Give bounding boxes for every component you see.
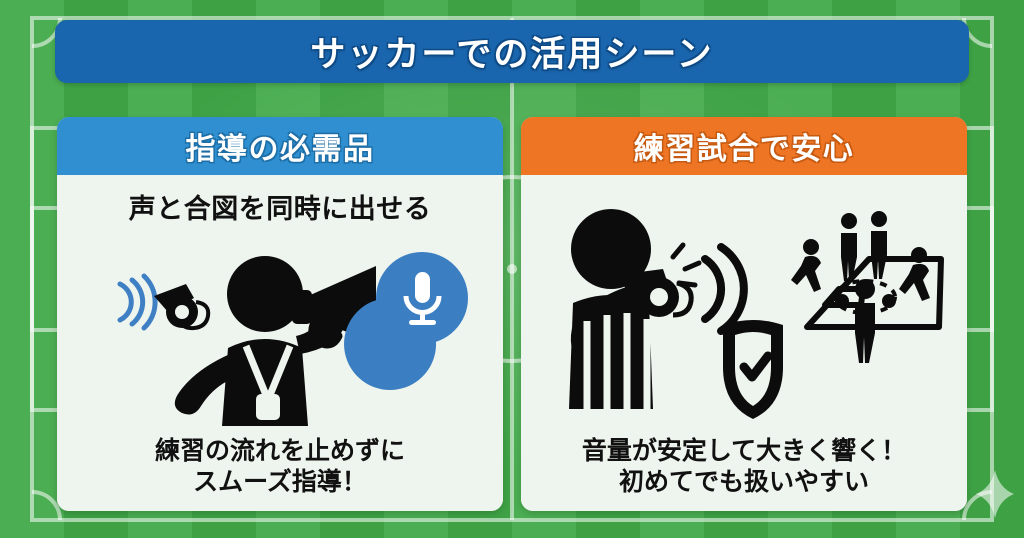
card-header-label-left: 指導の必需品 [186, 124, 375, 168]
page-title: サッカーでの活用シーン [310, 26, 713, 77]
card-coaching-essential: 指導の必需品 声と合図を同時に出せる [57, 117, 503, 511]
card-heading-left: 声と合図を同時に出せる [129, 187, 432, 226]
card-caption-right: 音量が安定して大きく響く！ 初めてでも扱いやすい [582, 436, 906, 511]
player-figures [791, 211, 930, 363]
soccer-pitch-players-icon [791, 211, 941, 363]
card-practice-match: 練習試合で安心 [521, 117, 967, 511]
card-caption-right-line2: 初めてでも扱いやすい [582, 467, 906, 498]
card-header-right: 練習試合で安心 [521, 117, 967, 175]
card-header-left: 指導の必需品 [57, 117, 503, 175]
card-caption-left-line1: 練習の流れを止めずに [155, 436, 405, 467]
card-caption-left-line2: スムーズ指導！ [155, 467, 405, 498]
infographic-stage: サッカーでの活用シーン 指導の必需品 声と合図を同時に出せる [0, 0, 1024, 538]
sound-waves-icon [705, 247, 744, 331]
whistle-spark-icon [673, 245, 699, 285]
card-caption-left: 練習の流れを止めずに スムーズ指導！ [155, 436, 405, 511]
card-header-label-right: 練習試合で安心 [634, 124, 855, 168]
page-title-banner: サッカーでの活用シーン [55, 20, 969, 83]
card-body-right: 音量が安定して大きく響く！ 初めてでも扱いやすい [521, 175, 967, 511]
shield-check-icon [723, 320, 783, 419]
referee-illustration-svg [539, 197, 949, 432]
card-body-left: 声と合図を同時に出せる [57, 175, 503, 511]
illustration-referee [521, 187, 967, 436]
card-caption-right-line1: 音量が安定して大きく響く！ [582, 436, 906, 467]
illustration-coach [57, 226, 503, 436]
sound-waves-icon [120, 276, 155, 328]
coach-illustration-svg [90, 236, 470, 426]
whistle-icon [154, 284, 208, 328]
